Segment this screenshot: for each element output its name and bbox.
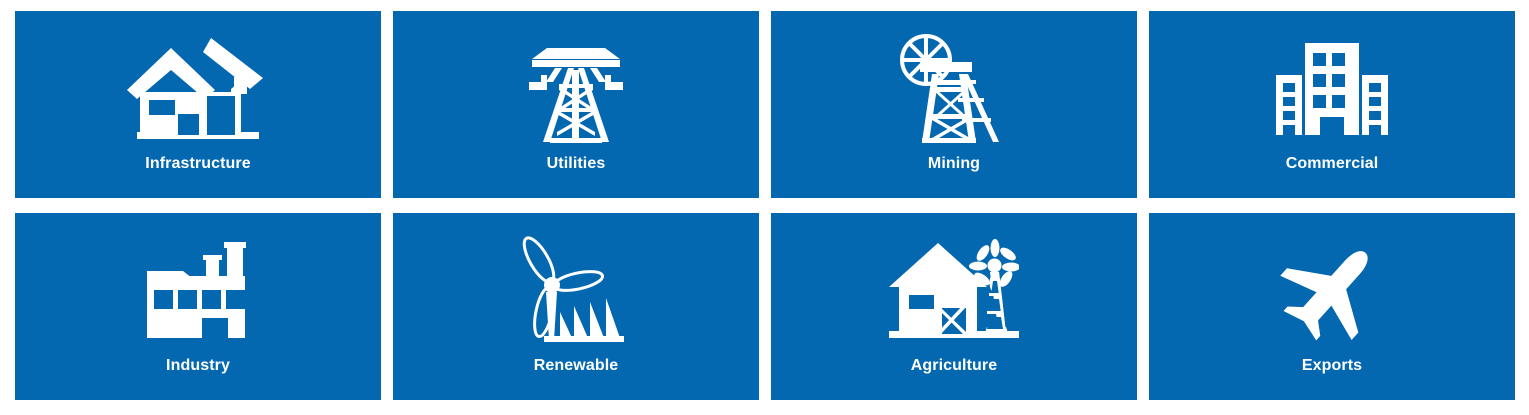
sector-tile-grid: Infrastructure xyxy=(15,11,1515,400)
tile-industry[interactable]: Industry xyxy=(15,213,381,400)
tile-agriculture[interactable]: Agriculture xyxy=(771,213,1137,400)
office-buildings-icon xyxy=(1149,27,1515,149)
tile-label-utilities: Utilities xyxy=(547,155,606,173)
airplane-icon xyxy=(1149,229,1515,351)
tile-infrastructure[interactable]: Infrastructure xyxy=(15,11,381,198)
tile-renewable[interactable]: Renewable xyxy=(393,213,759,400)
tile-label-agriculture: Agriculture xyxy=(911,357,997,375)
factory-icon xyxy=(15,229,381,351)
tile-label-commercial: Commercial xyxy=(1286,155,1379,173)
tile-commercial[interactable]: Commercial xyxy=(1149,11,1515,198)
tile-label-renewable: Renewable xyxy=(534,357,619,375)
tile-label-infrastructure: Infrastructure xyxy=(145,155,250,173)
tile-label-mining: Mining xyxy=(928,155,980,173)
tile-utilities[interactable]: Utilities xyxy=(393,11,759,198)
mine-headframe-icon xyxy=(771,27,1137,149)
wind-turbine-factory-icon xyxy=(393,229,759,351)
tile-exports[interactable]: Exports xyxy=(1149,213,1515,400)
farmhouse-windmill-icon xyxy=(771,229,1137,351)
tile-mining[interactable]: Mining xyxy=(771,11,1137,198)
tile-label-exports: Exports xyxy=(1302,357,1362,375)
power-pylon-icon xyxy=(393,27,759,149)
house-icon xyxy=(15,27,381,149)
tile-label-industry: Industry xyxy=(166,357,230,375)
